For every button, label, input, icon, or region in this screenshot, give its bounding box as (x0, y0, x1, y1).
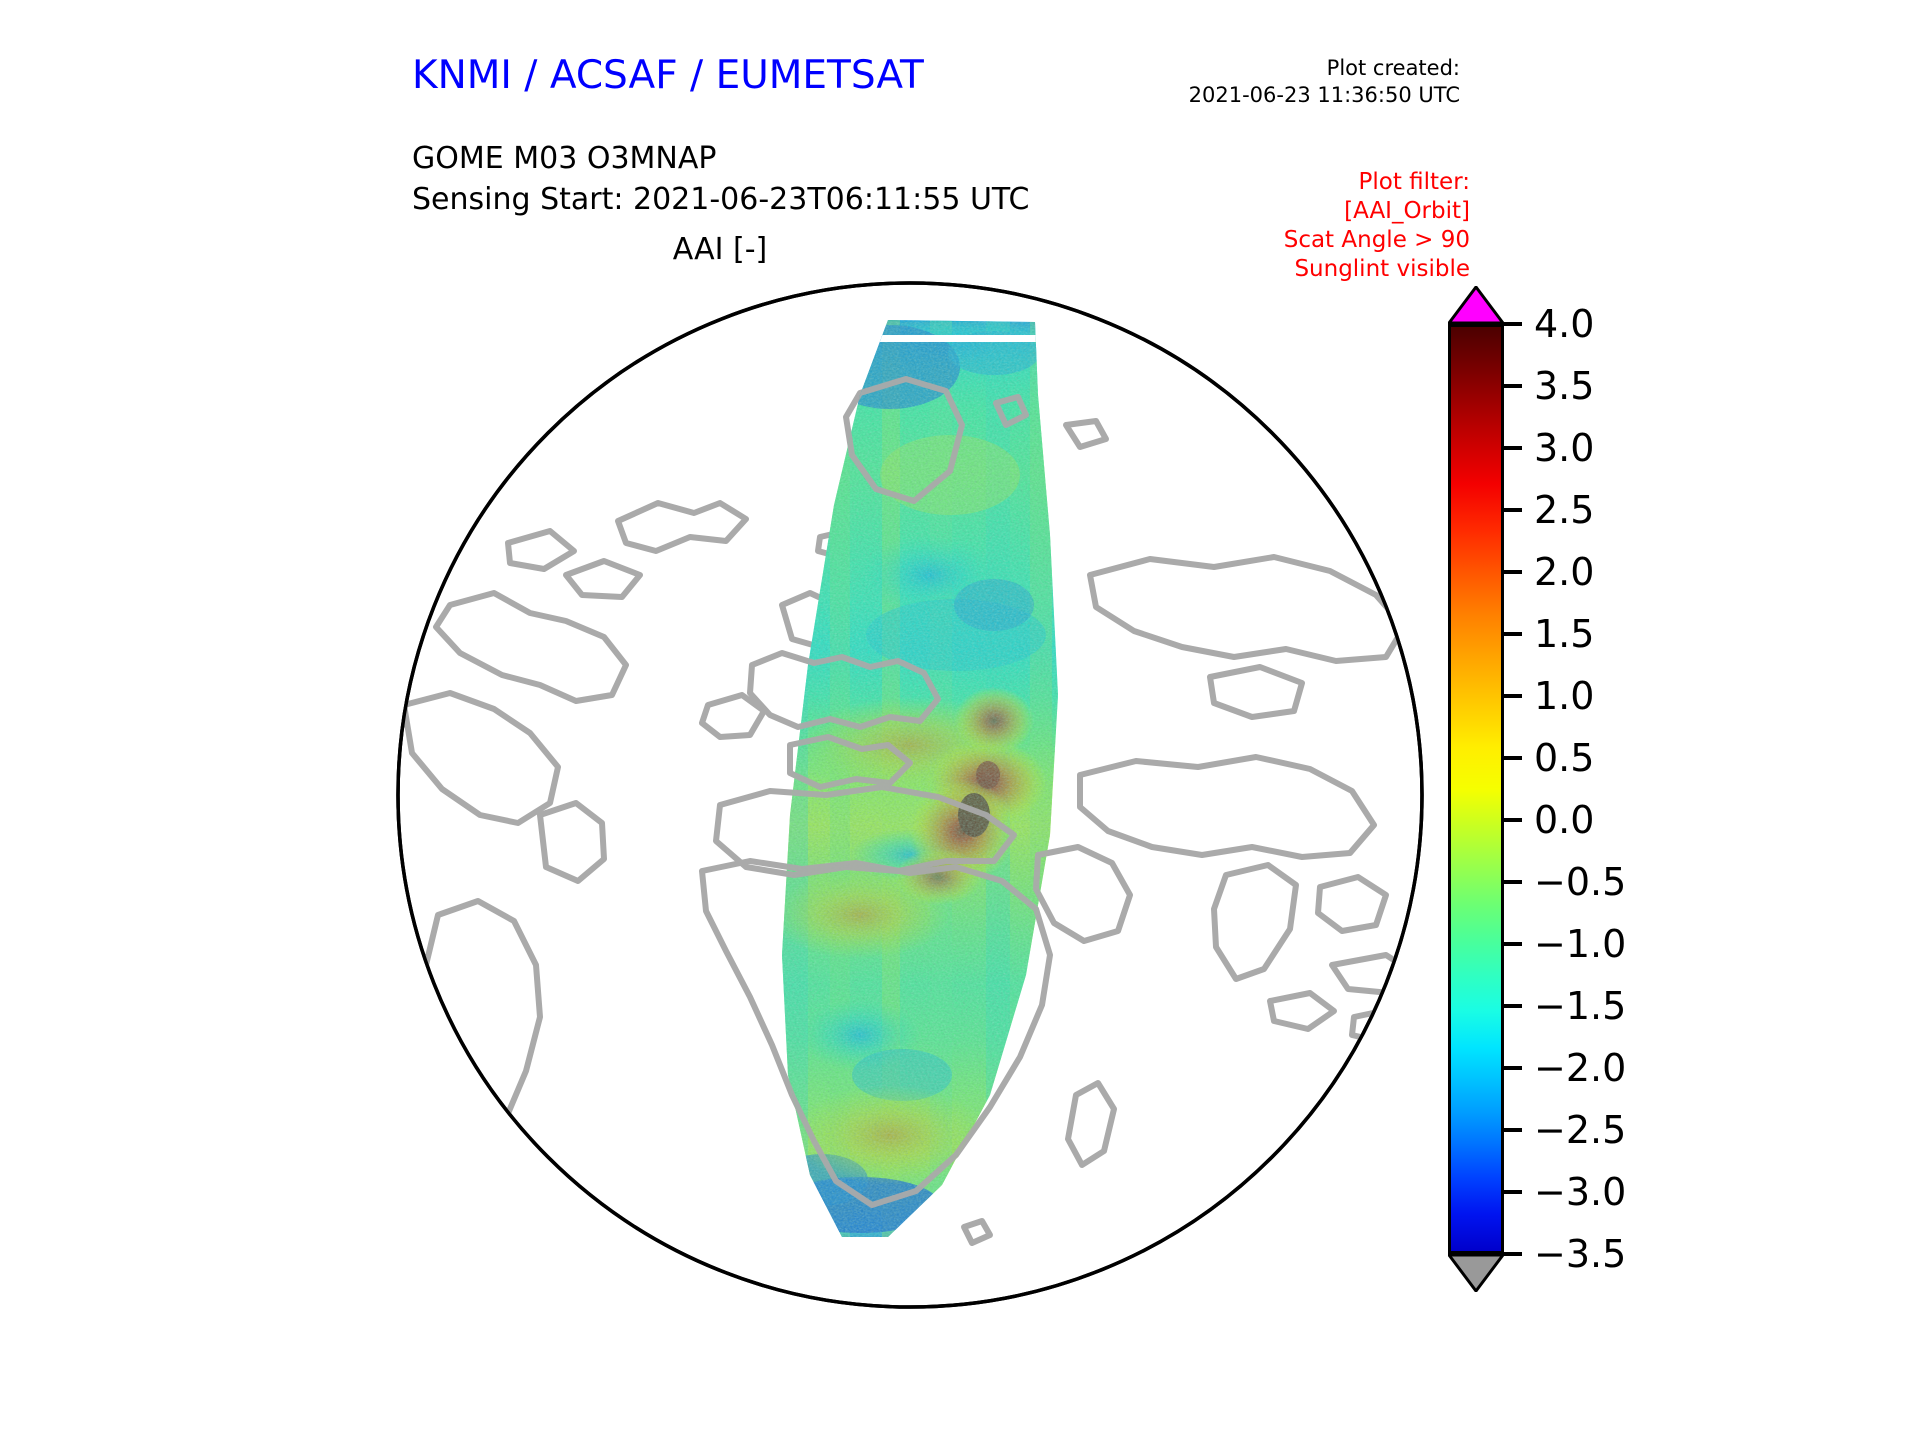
map-canvas (390, 275, 1430, 1315)
colorbar-tick-mark (1504, 880, 1522, 884)
colorbar-tick-mark (1504, 694, 1522, 698)
colorbar-tick-mark (1504, 818, 1522, 822)
colorbar-ticks: 4.03.53.02.52.01.51.00.50.0−0.5−1.0−1.5−… (1448, 286, 1708, 1296)
colorbar: 4.03.53.02.52.01.51.00.50.0−0.5−1.0−1.5−… (1448, 286, 1504, 1296)
colorbar-tick-mark (1504, 1252, 1522, 1256)
colorbar-tick-label: −3.5 (1534, 1231, 1626, 1277)
colorbar-tick-label: 2.0 (1534, 549, 1594, 595)
organisation-header: KNMI / ACSAF / EUMETSAT (412, 53, 924, 98)
quantity-label: AAI [-] (0, 232, 1440, 267)
colorbar-tick-label: 0.0 (1534, 797, 1594, 843)
colorbar-tick-label: −3.0 (1534, 1169, 1626, 1215)
colorbar-tick-mark (1504, 446, 1522, 450)
plot-created-block: Plot created: 2021-06-23 11:36:50 UTC (1189, 55, 1460, 109)
colorbar-tick-mark (1504, 942, 1522, 946)
colorbar-tick-mark (1504, 1128, 1522, 1132)
colorbar-tick-label: 2.5 (1534, 487, 1594, 533)
colorbar-tick-mark (1504, 384, 1522, 388)
plot-created-timestamp: 2021-06-23 11:36:50 UTC (1189, 82, 1460, 109)
colorbar-tick-label: 0.5 (1534, 735, 1594, 781)
page-title: GOME M03 O3MNAP Sensing Start: 2021-06-2… (412, 138, 1029, 220)
colorbar-tick-label: 1.0 (1534, 673, 1594, 719)
plot-filter-label: Plot filter: (1284, 168, 1470, 197)
sensing-start-title: Sensing Start: 2021-06-23T06:11:55 UTC (412, 179, 1029, 220)
colorbar-tick-label: 4.0 (1534, 301, 1594, 347)
colorbar-tick-mark (1504, 1190, 1522, 1194)
colorbar-tick-mark (1504, 632, 1522, 636)
colorbar-tick-mark (1504, 508, 1522, 512)
globe-svg (390, 275, 1430, 1315)
colorbar-tick-mark (1504, 1066, 1522, 1070)
colorbar-tick-label: 1.5 (1534, 611, 1594, 657)
instrument-title: GOME M03 O3MNAP (412, 138, 1029, 179)
colorbar-tick-label: −0.5 (1534, 859, 1626, 905)
colorbar-tick-label: 3.5 (1534, 363, 1594, 409)
colorbar-tick-mark (1504, 570, 1522, 574)
plot-filter-block: Plot filter: [AAI_Orbit] Scat Angle > 90… (1284, 168, 1470, 284)
plot-created-label: Plot created: (1189, 55, 1460, 82)
colorbar-tick-label: −1.5 (1534, 983, 1626, 1029)
colorbar-tick-mark (1504, 1004, 1522, 1008)
colorbar-tick-label: −2.0 (1534, 1045, 1626, 1091)
plot-filter-line-1: [AAI_Orbit] (1284, 197, 1470, 226)
colorbar-tick-label: 3.0 (1534, 425, 1594, 471)
colorbar-tick-label: −1.0 (1534, 921, 1626, 967)
colorbar-tick-label: −2.5 (1534, 1107, 1626, 1153)
colorbar-tick-mark (1504, 322, 1522, 326)
colorbar-tick-mark (1504, 756, 1522, 760)
plot-filter-line-2: Scat Angle > 90 (1284, 226, 1470, 255)
